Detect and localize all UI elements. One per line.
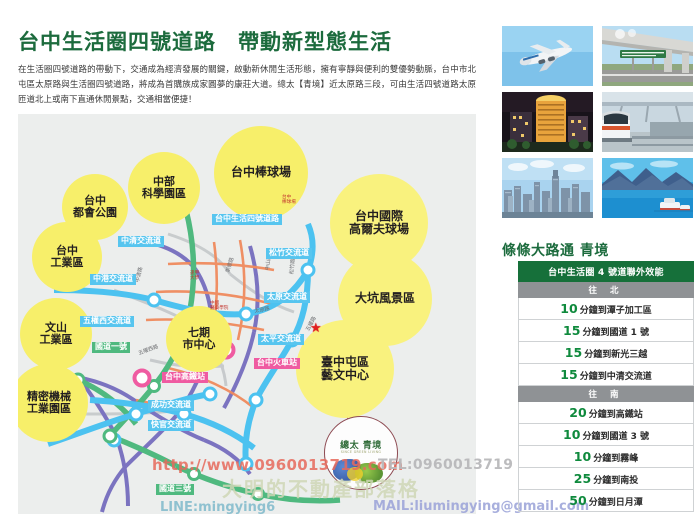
road-label-songzhu[interactable]: 松竹交流道 bbox=[266, 248, 312, 259]
road-label-zhongqing[interactable]: 中清交流道 bbox=[118, 236, 164, 247]
table-row: 25分鐘到南投 bbox=[519, 468, 694, 490]
road-label-taiping[interactable]: 太平交流道 bbox=[258, 334, 304, 345]
table-title-row: 台中生活圈 4 號道聯外效能 bbox=[519, 262, 694, 282]
table-row: 15分鐘到中清交流道 bbox=[519, 364, 694, 386]
side-heading: 條條大路通 青境 bbox=[502, 240, 609, 260]
poi-red-label: 台中棒球場 bbox=[282, 196, 296, 206]
district-blob: 文山工業區 bbox=[20, 298, 92, 370]
road-label-freeway-3[interactable]: 國道三號 bbox=[156, 484, 194, 495]
district-label: 精密機械工業園區 bbox=[27, 391, 71, 416]
high-speed-rail-photo bbox=[602, 92, 693, 152]
table-row: 15分鐘到國道 1 號 bbox=[519, 320, 694, 342]
project-logo-subtext: SINCE GREEN LIVING bbox=[325, 450, 397, 454]
row-text: 分鐘到高鐵站 bbox=[589, 410, 643, 420]
row-text: 分鐘到中清交流道 bbox=[580, 372, 652, 382]
row-text: 分鐘到日月潭 bbox=[589, 498, 643, 508]
row-text: 分鐘到潭子加工區 bbox=[580, 306, 652, 316]
table-row: 20分鐘到高鐵站 bbox=[519, 402, 694, 424]
travel-time-table: 台中生活圈 4 號道聯外效能 往 北 10分鐘到潭子加工區 15分鐘到國道 1 … bbox=[518, 261, 694, 512]
row-text: 分鐘到國道 3 號 bbox=[582, 432, 649, 442]
transport-map[interactable]: 台中都會公園 中部科學園區 台中棒球場 台中國際高爾夫球場 大坑風景區 台中工業… bbox=[18, 114, 476, 514]
district-label: 台中棒球場 bbox=[231, 166, 291, 179]
row-minutes: 50 bbox=[569, 493, 586, 508]
road-label-taiyuan[interactable]: 太原交流道 bbox=[264, 292, 310, 303]
road-label-kuaiguan[interactable]: 快官交流道 bbox=[148, 420, 194, 431]
row-text: 分鐘到南投 bbox=[593, 476, 638, 486]
section-direction-north: 往 北 bbox=[519, 282, 694, 298]
road-label-freeway-1[interactable]: 國道一號 bbox=[92, 342, 130, 353]
poster-root: 台中生活圈四號道路 帶動新型態生活 在生活圈四號道路的帶動下，交通成為經濟發展的… bbox=[0, 0, 700, 527]
table-row: 15分鐘到新光三越 bbox=[519, 342, 694, 364]
district-label: 臺中屯區藝文中心 bbox=[321, 356, 369, 383]
right-column: 條條大路通 青境 台中生活圈 4 號道聯外效能 往 北 10分鐘到潭子加工區 1… bbox=[496, 0, 700, 527]
table-row: 10分鐘到國道 3 號 bbox=[519, 424, 694, 446]
district-blob: 七期市中心 bbox=[166, 306, 232, 372]
row-text: 分鐘到霧峰 bbox=[593, 454, 638, 464]
row-minutes: 25 bbox=[574, 471, 591, 486]
district-label: 台中都會公園 bbox=[73, 195, 117, 220]
logo-yellow-blob bbox=[347, 467, 363, 481]
row-minutes: 15 bbox=[563, 323, 580, 338]
table-row: 50分鐘到日月潭 bbox=[519, 490, 694, 512]
district-label: 大坑風景區 bbox=[355, 292, 415, 305]
district-label: 七期市中心 bbox=[183, 327, 216, 352]
road-label-chenggong[interactable]: 成功交流道 bbox=[148, 400, 194, 411]
table-section-header-south: 往 南 bbox=[519, 386, 694, 402]
row-minutes: 10 bbox=[563, 427, 580, 442]
district-label: 中部科學園區 bbox=[142, 176, 186, 201]
district-label: 台中工業區 bbox=[51, 245, 84, 270]
district-label: 文山工業區 bbox=[40, 322, 73, 347]
row-minutes: 15 bbox=[565, 345, 582, 360]
road-label-wuquanxi[interactable]: 五權西交流道 bbox=[80, 316, 134, 327]
district-blob: 中部科學園區 bbox=[128, 152, 200, 224]
page-title: 台中生活圈四號道路 帶動新型態生活 bbox=[18, 26, 392, 56]
row-minutes: 10 bbox=[574, 449, 591, 464]
table-row: 10分鐘到霧峰 bbox=[519, 446, 694, 468]
section-direction-south: 往 南 bbox=[519, 386, 694, 402]
table-title: 台中生活圈 4 號道聯外效能 bbox=[519, 262, 694, 282]
district-blob: 台中棒球場 bbox=[214, 126, 308, 220]
project-location-star: ★ bbox=[310, 322, 322, 335]
airplane-photo bbox=[502, 26, 593, 86]
row-minutes: 10 bbox=[560, 301, 577, 316]
district-label: 台中國際高爾夫球場 bbox=[349, 210, 409, 237]
row-text: 分鐘到國道 1 號 bbox=[582, 328, 649, 338]
road-label-route-4[interactable]: 台中生活四號道路 bbox=[212, 214, 282, 225]
sun-moon-lake-photo bbox=[602, 158, 693, 218]
department-store-night-photo bbox=[502, 92, 593, 152]
highway-overpass-photo bbox=[602, 26, 693, 86]
row-minutes: 15 bbox=[560, 367, 577, 382]
road-label-zhonggang[interactable]: 中港交流道 bbox=[90, 274, 136, 285]
road-label-train-station[interactable]: 台中火車站 bbox=[254, 358, 300, 369]
photo-gallery bbox=[502, 26, 695, 218]
row-text: 分鐘到新光三越 bbox=[584, 350, 647, 360]
row-minutes: 20 bbox=[569, 405, 586, 420]
project-logo-bubble[interactable]: 總太 青境 SINCE GREEN LIVING bbox=[324, 416, 398, 490]
city-skyline-photo bbox=[502, 158, 593, 218]
intro-paragraph: 在生活圈四號道路的帶動下，交通成為經濟發展的關鍵，啟動新休閒生活形態，擁有寧靜與… bbox=[18, 63, 476, 108]
table-row: 10分鐘到潭子加工區 bbox=[519, 298, 694, 320]
poi-red-label: 中國醫藥學院 bbox=[210, 302, 228, 312]
road-label-hsr-station[interactable]: 台中高鐵站 bbox=[162, 372, 208, 383]
poi-red-label: 逢甲大學 bbox=[190, 272, 199, 282]
table-section-header-north: 往 北 bbox=[519, 282, 694, 298]
left-column: 台中生活圈四號道路 帶動新型態生活 在生活圈四號道路的帶動下，交通成為經濟發展的… bbox=[0, 0, 492, 527]
